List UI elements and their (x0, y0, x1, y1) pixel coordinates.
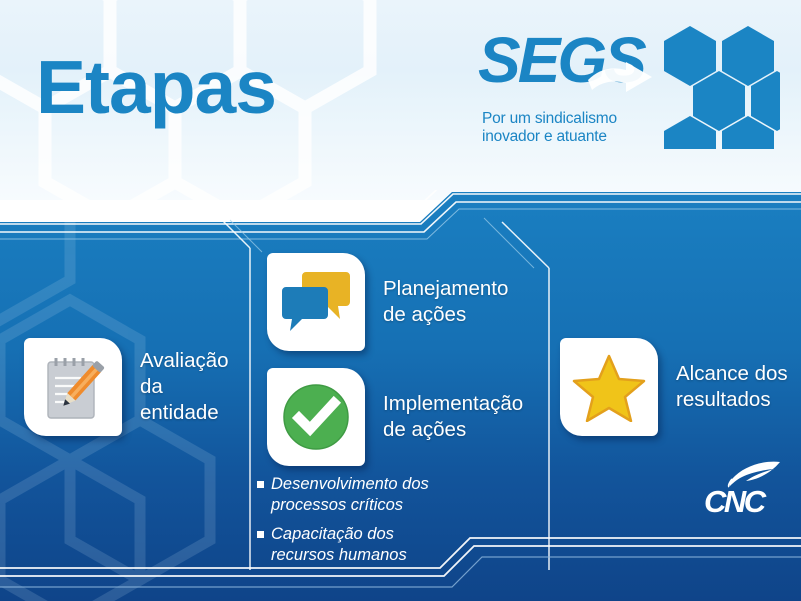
bullet-list: Desenvolvimento dos processos críticos C… (257, 474, 497, 574)
card-implementacao[interactable]: Implementação de ações (267, 368, 523, 466)
card-label-planejamento: Planejamento de ações (383, 276, 508, 328)
card-alcance[interactable]: Alcance dos resultados (560, 338, 788, 436)
card-label-avaliacao: Avaliação da entidade (140, 348, 229, 427)
icon-tile-avaliacao (24, 338, 122, 436)
content-layer: Avaliação da entidade Planejamento de aç… (0, 0, 801, 601)
card-label-implementacao: Implementação de ações (383, 391, 523, 443)
card-avaliacao[interactable]: Avaliação da entidade (24, 338, 229, 436)
bullet-square-icon (257, 531, 264, 538)
icon-tile-planejamento (267, 253, 365, 351)
gold-star-icon (572, 352, 646, 422)
cnc-logo: CNC (700, 462, 786, 522)
notepad-pencil-icon (41, 352, 105, 422)
icon-tile-alcance (560, 338, 658, 436)
list-item: Capacitação dos recursos humanos (257, 524, 497, 567)
bullet-square-icon (257, 481, 264, 488)
card-label-alcance: Alcance dos resultados (676, 361, 788, 413)
bullet-text: Desenvolvimento dos processos críticos (271, 474, 429, 517)
green-check-circle-icon (281, 382, 351, 452)
card-planejamento[interactable]: Planejamento de ações (267, 253, 508, 351)
bullet-text: Capacitação dos recursos humanos (271, 524, 407, 567)
slide-canvas: Etapas SEGS Por um sindicalismo inovado (0, 0, 801, 601)
cnc-wordmark: CNC (704, 486, 764, 517)
speech-bubbles-icon (280, 269, 352, 335)
icon-tile-implementacao (267, 368, 365, 466)
list-item: Desenvolvimento dos processos críticos (257, 474, 497, 517)
